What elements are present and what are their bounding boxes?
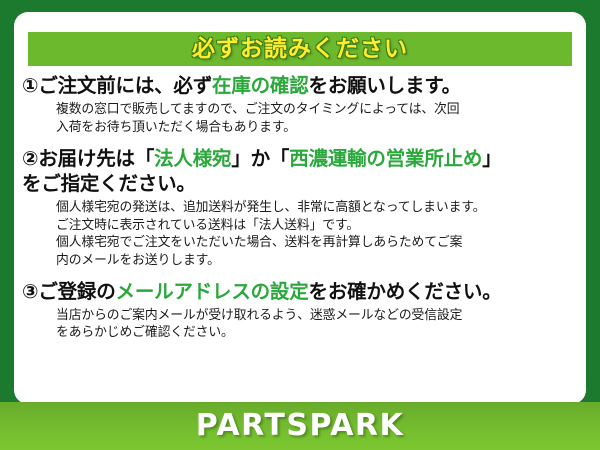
- item-spacer-2: [14, 270, 586, 280]
- notice-panel: 必ずお読みください ①ご注文前には、必ず在庫の確認をお願いします。 複数の窓口で…: [14, 12, 586, 404]
- notice-item-2-marker: ②: [22, 147, 38, 170]
- notice-item-1-marker: ①: [22, 74, 38, 97]
- notice-item-2: ②お届け先は「法人様宛」か「西濃運輸の営業所止め」 をご指定ください。 個人様宅…: [14, 147, 586, 270]
- notice-item-2-heading-part-6: をご指定ください。: [22, 172, 196, 195]
- notice-item-2-subtext-line-4: 内のメールをお送りします。: [56, 252, 576, 270]
- notice-item-1-heading-part-1: ご注文前には、必ず: [38, 74, 212, 97]
- notice-item-2-subtext-line-1: 個人様宅宛の発送は、追加送料が発生し、非常に高額となってしまいます。: [56, 199, 576, 217]
- notice-item-1: ①ご注文前には、必ず在庫の確認をお願いします。 複数の窓口で販売してますので、ご…: [14, 74, 586, 136]
- notice-item-2-heading-line-2: をご指定ください。: [14, 172, 586, 197]
- notice-item-2-heading-part-5: 」: [482, 147, 501, 170]
- notice-item-2-heading-line-1: ②お届け先は「法人様宛」か「西濃運輸の営業所止め」: [14, 147, 586, 172]
- notice-item-3-heading: ③ご登録のメールアドレスの設定をお確かめください。: [14, 280, 586, 305]
- notice-item-2-subtext: 個人様宅宛の発送は、追加送料が発生し、非常に高額となってしまいます。 ご注文時に…: [14, 197, 586, 270]
- notice-item-2-heading-part-3: 」か「: [231, 147, 289, 170]
- notice-item-2-heading-part-1: お届け先は「: [38, 147, 154, 170]
- notice-item-3-heading-part-3: をお確かめください。: [309, 280, 502, 303]
- brand-name: PARTSPARK: [196, 411, 405, 441]
- notice-item-2-subtext-line-2: ご注文時に表示されている送料は「法人送料」です。: [56, 217, 576, 235]
- notice-header-title: 必ずお読みください: [192, 38, 408, 61]
- notice-item-3-subtext-line-1: 当店からのご案内メールが受け取れるよう、迷惑メールなどの受信設定: [56, 307, 576, 325]
- notice-item-3-heading-part-1: ご登録の: [38, 280, 115, 303]
- notice-item-2-heading-highlight-1: 法人様宛: [154, 147, 231, 170]
- notice-item-1-subtext-line-2: 入荷をお待ち頂いただく場合もあります。: [56, 119, 576, 137]
- notice-item-1-heading-part-3: をお願いします。: [309, 74, 461, 97]
- notice-item-1-heading-highlight: 在庫の確認: [212, 74, 309, 97]
- notice-item-list: ①ご注文前には、必ず在庫の確認をお願いします。 複数の窓口で販売してますので、ご…: [14, 74, 586, 342]
- notice-item-1-subtext-line-1: 複数の窓口で販売してますので、ご注文のタイミングによっては、次回: [56, 101, 576, 119]
- notice-item-2-heading-highlight-2: 西濃運輸の営業所止め: [289, 147, 482, 170]
- notice-item-3-subtext-line-2: をあらかじめご確認ください。: [56, 324, 576, 342]
- notice-item-3: ③ご登録のメールアドレスの設定をお確かめください。 当店からのご案内メールが受け…: [14, 280, 586, 342]
- notice-item-2-subtext-line-3: 個人様宅宛でご注文をいただいた場合、送料を再計算しあらためてご案: [56, 234, 576, 252]
- notice-item-1-heading: ①ご注文前には、必ず在庫の確認をお願いします。: [14, 74, 586, 99]
- notice-item-3-heading-highlight: メールアドレスの設定: [116, 280, 309, 303]
- notice-item-3-subtext: 当店からのご案内メールが受け取れるよう、迷惑メールなどの受信設定 をあらかじめご…: [14, 305, 586, 342]
- brand-footer: PARTSPARK: [0, 402, 600, 450]
- notice-header-band: 必ずお読みください: [28, 32, 572, 66]
- item-spacer-1: [14, 136, 586, 147]
- notice-item-1-subtext: 複数の窓口で販売してますので、ご注文のタイミングによっては、次回 入荷をお待ち頂…: [14, 99, 586, 136]
- notice-item-3-marker: ③: [22, 280, 38, 303]
- notice-banner: 必ずお読みください ①ご注文前には、必ず在庫の確認をお願いします。 複数の窓口で…: [0, 0, 600, 450]
